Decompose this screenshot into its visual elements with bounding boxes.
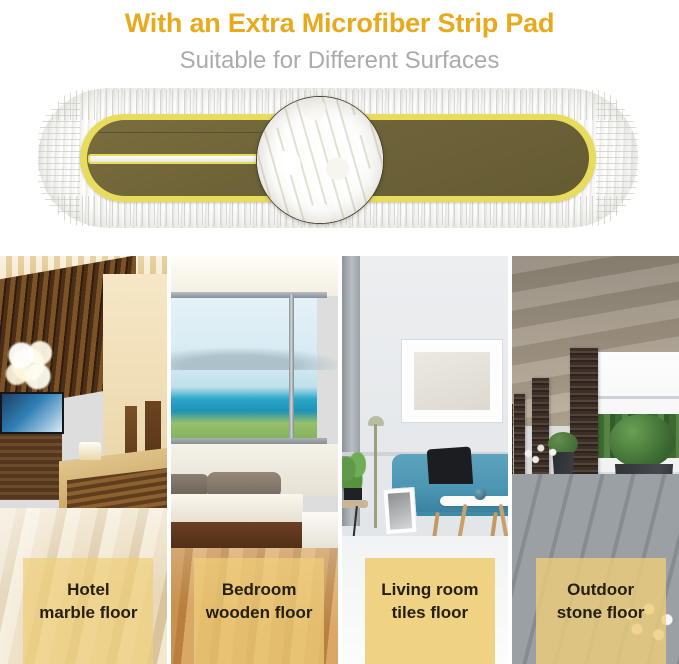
caption-line-1: Living room bbox=[371, 578, 489, 601]
lobby-wall-paneling bbox=[0, 432, 62, 500]
caption-line-1: Hotel bbox=[29, 578, 147, 601]
fringe-loops-right bbox=[596, 98, 638, 218]
caption-line-2: stone floor bbox=[542, 601, 660, 624]
side-stool-top bbox=[342, 500, 368, 508]
wall-tv-screen bbox=[0, 392, 64, 434]
fringe-loops-left bbox=[38, 98, 80, 218]
magnifier-vignette bbox=[257, 97, 383, 223]
bedroom-ceiling bbox=[171, 256, 338, 296]
page-subtitle: Suitable for Different Surfaces bbox=[0, 46, 679, 76]
gallery-panel-outdoor-stone-floor: Outdoor stone floor bbox=[512, 256, 679, 664]
caption-line-2: tiles floor bbox=[371, 601, 489, 624]
gallery-panel-hotel-marble-floor: Hotel marble floor bbox=[0, 256, 167, 664]
table-lamp-icon bbox=[79, 442, 101, 460]
leaning-picture-image bbox=[387, 492, 411, 529]
floor-lamp-pole bbox=[374, 424, 377, 528]
terrace-railing bbox=[597, 396, 679, 399]
topiary-shrub-large bbox=[609, 414, 675, 468]
panel-caption-living-room: Living room tiles floor bbox=[365, 558, 495, 664]
window-distant-hills bbox=[171, 348, 338, 370]
caption-line-1: Outdoor bbox=[542, 578, 660, 601]
artwork-canvas bbox=[414, 352, 490, 410]
nightstand bbox=[302, 512, 338, 552]
panel-caption-outdoor: Outdoor stone floor bbox=[536, 558, 666, 664]
caption-line-2: wooden floor bbox=[200, 601, 318, 624]
gallery-panel-bedroom-wooden-floor: Bedroom wooden floor bbox=[171, 256, 338, 664]
panel-caption-bedroom: Bedroom wooden floor bbox=[194, 558, 324, 664]
window-frame-top bbox=[171, 292, 327, 298]
gallery-panel-living-room-tiles-floor: Living room tiles floor bbox=[342, 256, 509, 664]
chandelier-icon bbox=[4, 338, 62, 396]
panel-caption-hotel: Hotel marble floor bbox=[23, 558, 153, 664]
window-mullion bbox=[289, 294, 294, 444]
bed-pillow-left bbox=[171, 474, 209, 496]
framed-artwork bbox=[402, 340, 502, 422]
surface-gallery: Hotel marble floor Bedroom wooden floor bbox=[0, 256, 679, 664]
header: With an Extra Microfiber Strip Pad Suita… bbox=[0, 0, 679, 76]
caption-line-2: marble floor bbox=[29, 601, 147, 624]
caption-line-1: Bedroom bbox=[200, 578, 318, 601]
leaning-picture-frame bbox=[382, 487, 417, 535]
product-hero bbox=[0, 82, 679, 232]
mop-pad-image bbox=[38, 88, 638, 228]
page-title: With an Extra Microfiber Strip Pad bbox=[0, 6, 679, 40]
loop-pile-closeup-icon bbox=[256, 96, 384, 224]
